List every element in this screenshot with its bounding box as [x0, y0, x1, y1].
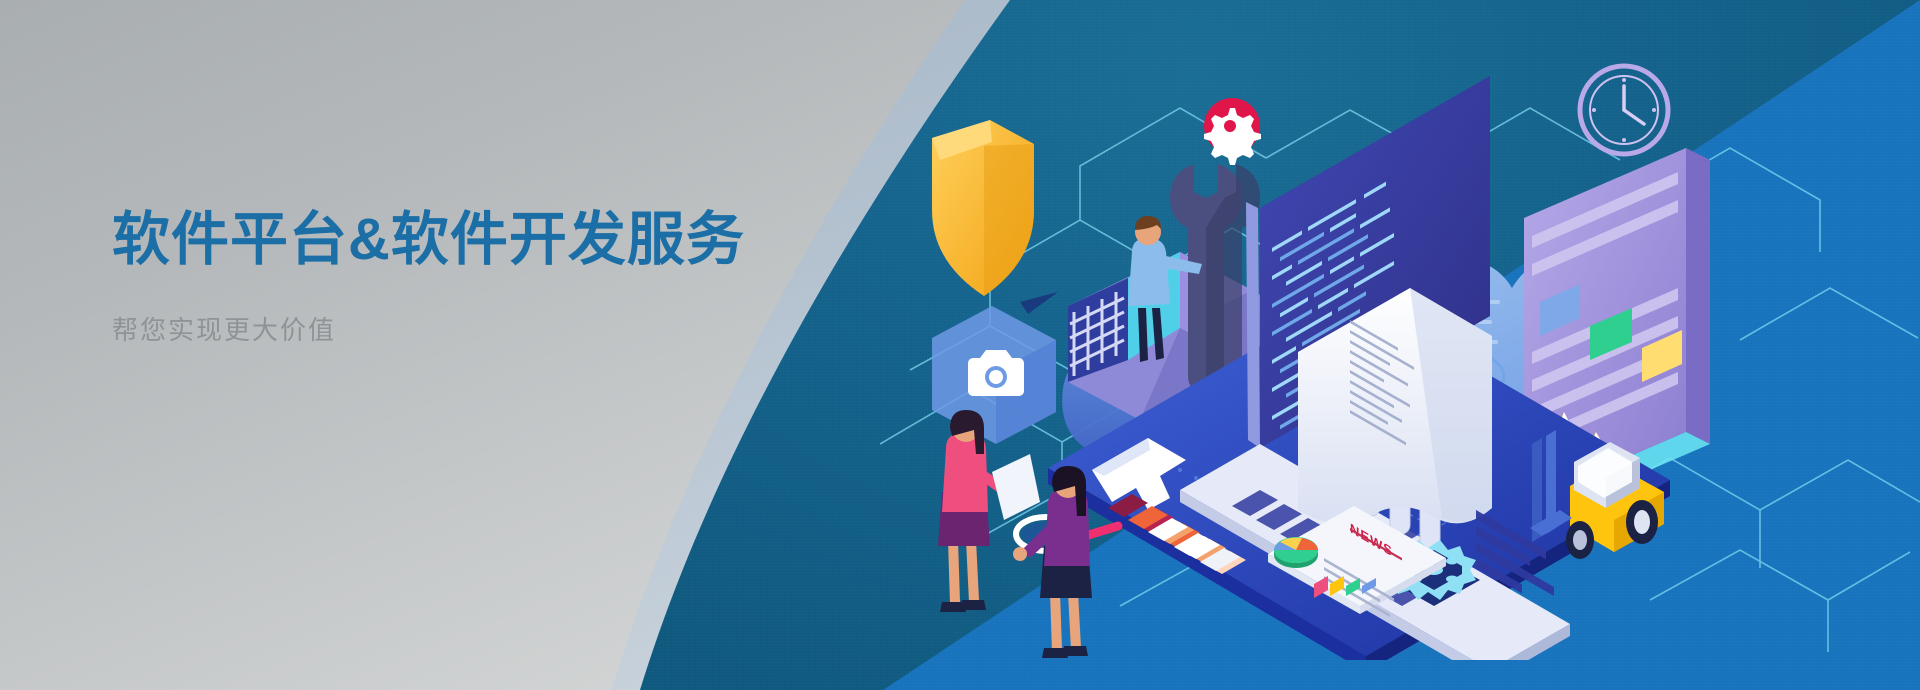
clock-icon — [1580, 66, 1668, 154]
banner-text-block: 软件平台&软件开发服务 帮您实现更大价值 — [112, 206, 792, 347]
news-pie-chart — [1274, 537, 1318, 568]
gear-badge-icon — [1204, 98, 1261, 165]
hero-banner: 软件平台&软件开发服务 帮您实现更大价值 — [0, 0, 1920, 690]
person-analyst-pink — [938, 410, 1040, 612]
hero-illustration: NEWS — [880, 40, 1920, 660]
shield-icon — [932, 120, 1034, 296]
page-subtitle: 帮您实现更大价值 — [112, 310, 792, 347]
page-title: 软件平台&软件开发服务 — [112, 206, 792, 274]
